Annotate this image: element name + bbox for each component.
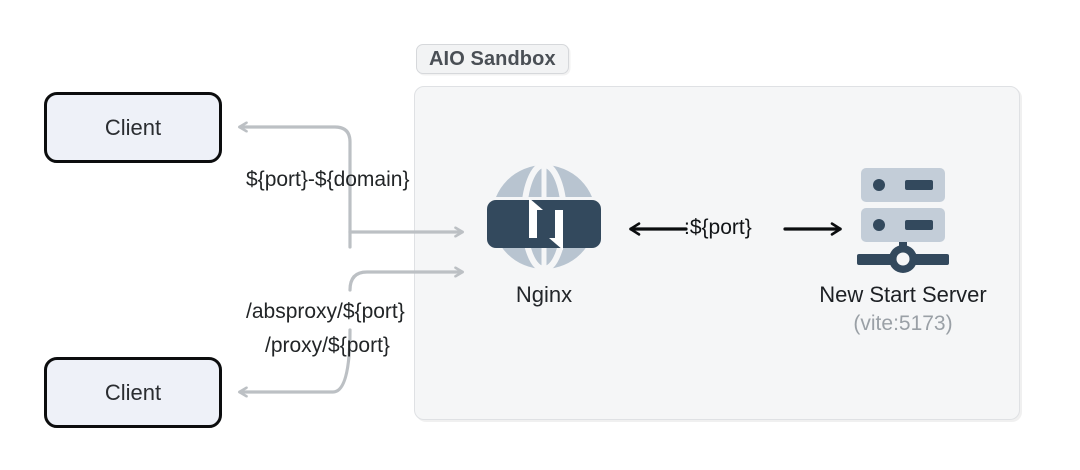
edge-label-domain-route: ${port}-${domain} [246,168,409,192]
diagram-canvas: AIO Sandbox Client Client ${port} [0,0,1080,470]
client-top-label: Client [105,115,161,141]
aio-sandbox-label: AIO Sandbox [416,44,569,74]
client-bottom-label: Client [105,380,161,406]
server-rack-icon [848,158,958,278]
nginx-label: Nginx [516,282,572,308]
node-client-top[interactable]: Client [44,92,222,163]
node-nginx[interactable]: Nginx [483,158,605,338]
edge-label-proxy-route: /proxy/${port} [265,334,390,358]
edge-label-absproxy-route: /absproxy/${port} [246,300,405,324]
globe-exchange-icon [485,158,603,276]
node-new-start-server[interactable]: New Start Server (vite:5173) [808,158,998,336]
server-sublabel: (vite:5173) [853,312,952,336]
server-label: New Start Server [819,282,987,308]
edge-label-port-link: :${port} [684,216,752,240]
node-client-bottom[interactable]: Client [44,357,222,428]
